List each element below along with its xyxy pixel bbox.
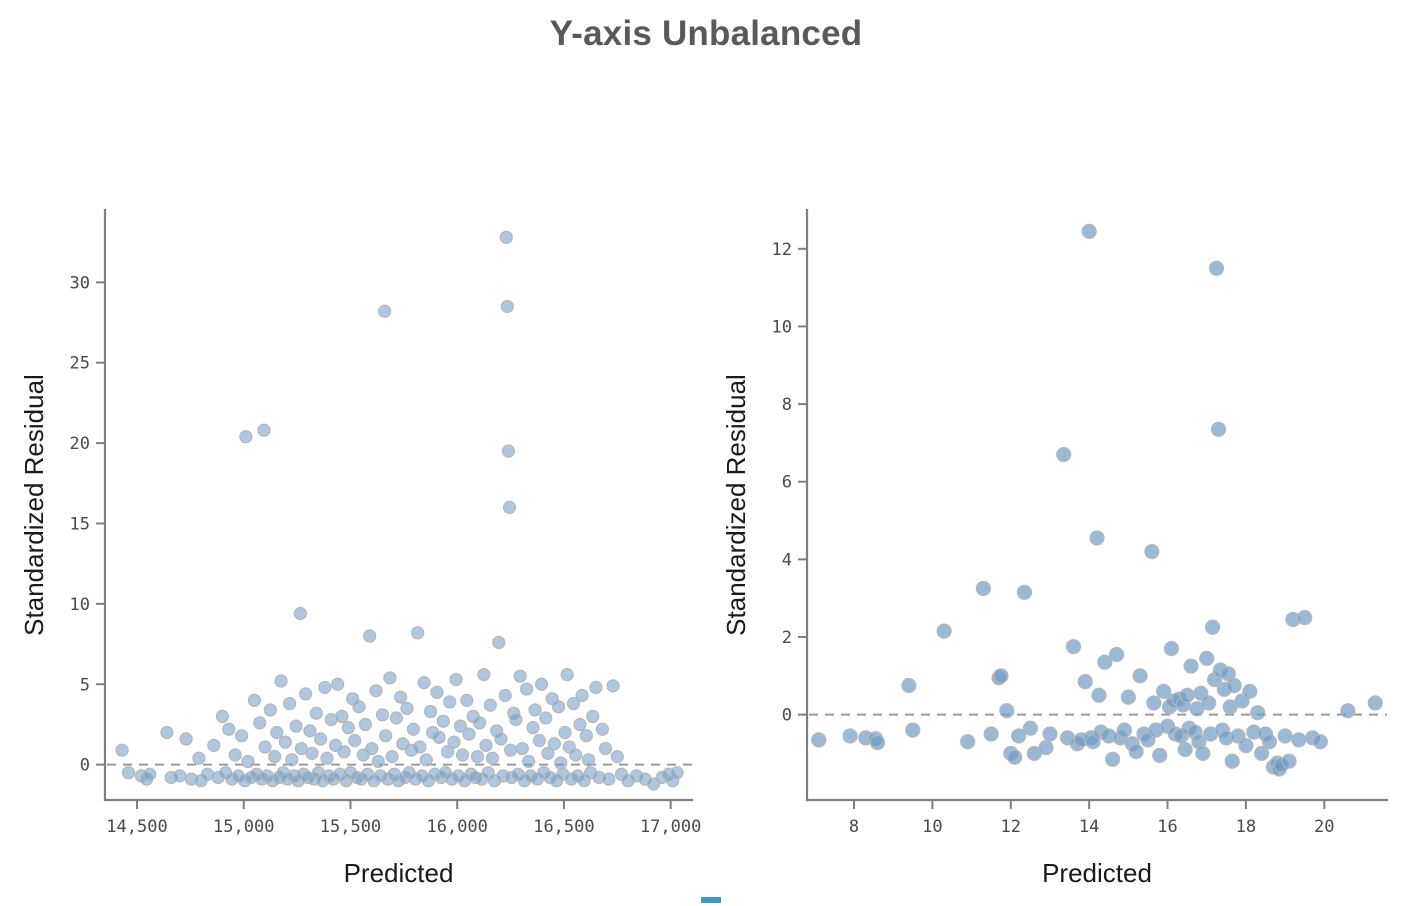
y-tick-label: 0	[80, 756, 90, 776]
data-point	[418, 677, 430, 689]
y-tick-label: 30	[70, 273, 90, 293]
data-point	[336, 710, 348, 722]
data-point	[1206, 620, 1220, 634]
scatter-plot-left-svg: 05101520253014,50015,00015,50016,00016,5…	[20, 185, 720, 885]
bottom-accent-mark	[701, 897, 721, 903]
data-point	[310, 707, 322, 719]
data-point	[984, 727, 998, 741]
data-point	[364, 630, 376, 642]
data-point	[223, 723, 235, 735]
data-point	[275, 675, 287, 687]
data-point	[553, 701, 565, 713]
data-point	[1117, 723, 1131, 737]
data-point	[271, 726, 283, 738]
scatter-plot-left: 05101520253014,50015,00015,50016,00016,5…	[20, 185, 720, 885]
y-tick-label: 5	[80, 675, 90, 695]
x-tick-label: 12	[1001, 817, 1021, 837]
data-point	[576, 690, 588, 702]
data-point	[500, 231, 512, 243]
data-point	[484, 699, 496, 711]
data-point	[1039, 741, 1053, 755]
x-tick-label: 16,000	[426, 817, 487, 837]
data-point	[480, 739, 492, 751]
y-tick-label: 12	[772, 240, 792, 260]
data-point	[279, 736, 291, 748]
data-point	[1184, 659, 1198, 673]
data-point	[961, 735, 975, 749]
data-point	[1225, 754, 1239, 768]
data-point	[376, 709, 388, 721]
data-point	[1262, 735, 1276, 749]
data-point	[555, 757, 567, 769]
data-point	[1057, 448, 1071, 462]
data-point	[937, 624, 951, 638]
data-point	[264, 704, 276, 716]
data-point	[1278, 729, 1292, 743]
data-point	[380, 730, 392, 742]
data-point	[580, 730, 592, 742]
data-point	[1282, 754, 1296, 768]
x-tick-label: 17,000	[640, 817, 701, 837]
data-point	[502, 445, 514, 457]
data-point	[548, 738, 560, 750]
data-point	[161, 726, 173, 738]
data-point	[372, 755, 384, 767]
data-point	[510, 714, 522, 726]
data-point	[433, 731, 445, 743]
data-point	[1292, 733, 1306, 747]
data-point	[144, 768, 156, 780]
data-point	[208, 739, 220, 751]
data-point	[342, 722, 354, 734]
data-point	[384, 672, 396, 684]
data-point	[216, 710, 228, 722]
data-point	[505, 744, 517, 756]
data-point	[812, 733, 826, 747]
data-point	[258, 424, 270, 436]
data-point	[259, 741, 271, 753]
data-point	[444, 696, 456, 708]
data-point	[395, 691, 407, 703]
x-axis-label: Predicted	[344, 858, 454, 885]
data-point	[420, 754, 432, 766]
x-tick-label: 20	[1314, 817, 1334, 837]
data-point	[474, 717, 486, 729]
data-point	[254, 717, 266, 729]
x-tick-label: 10	[922, 817, 942, 837]
x-tick-label: 14	[1079, 817, 1099, 837]
data-point	[523, 755, 535, 767]
data-point	[1133, 669, 1147, 683]
data-point	[379, 305, 391, 317]
data-point	[478, 669, 490, 681]
data-point	[370, 685, 382, 697]
data-point	[1110, 647, 1124, 661]
data-point	[315, 733, 327, 745]
data-point	[236, 730, 248, 742]
data-point	[1008, 750, 1022, 764]
data-point	[499, 690, 511, 702]
data-point	[300, 688, 312, 700]
data-point	[332, 678, 344, 690]
data-point	[1145, 545, 1159, 559]
data-point	[1341, 704, 1355, 718]
data-point	[304, 725, 316, 737]
data-point	[906, 723, 920, 737]
data-point	[561, 669, 573, 681]
data-point	[425, 706, 437, 718]
data-point	[471, 751, 483, 763]
x-tick-label: 15,500	[320, 817, 381, 837]
data-point	[1251, 706, 1265, 720]
data-point	[1018, 585, 1032, 599]
data-point	[1200, 651, 1214, 665]
data-point-group	[116, 231, 683, 790]
data-point	[671, 767, 683, 779]
data-point	[122, 767, 134, 779]
y-tick-label: 6	[782, 473, 792, 493]
y-tick-label: 15	[70, 514, 90, 534]
data-point-group	[812, 224, 1382, 776]
data-point	[116, 744, 128, 756]
data-point	[596, 723, 608, 735]
data-point	[229, 749, 241, 761]
data-point	[871, 736, 885, 750]
data-point	[1066, 640, 1080, 654]
data-point	[1090, 531, 1104, 545]
data-point	[540, 712, 552, 724]
data-point	[607, 680, 619, 692]
data-point	[463, 728, 475, 740]
data-point	[286, 754, 298, 766]
data-point	[902, 678, 916, 692]
y-tick-label: 20	[70, 434, 90, 454]
data-point	[574, 718, 586, 730]
data-point	[493, 636, 505, 648]
data-point	[294, 608, 306, 620]
x-tick-label: 18	[1236, 817, 1256, 837]
y-axis-label: Standardized Residual	[721, 374, 751, 636]
x-axis-label: Predicted	[1042, 858, 1152, 885]
data-point	[1153, 748, 1167, 762]
y-tick-label: 0	[782, 706, 792, 726]
data-point	[290, 720, 302, 732]
data-point	[1129, 744, 1143, 758]
data-point	[533, 735, 545, 747]
data-point	[386, 751, 398, 763]
data-point	[516, 743, 528, 755]
data-point	[366, 743, 378, 755]
x-tick-label: 16	[1157, 817, 1177, 837]
data-point	[1313, 735, 1327, 749]
data-point	[431, 686, 443, 698]
x-tick-label: 15,000	[213, 817, 274, 837]
data-point	[390, 712, 402, 724]
data-point	[495, 733, 507, 745]
data-point	[843, 729, 857, 743]
data-point	[1196, 746, 1210, 760]
data-point	[1243, 684, 1257, 698]
data-point	[1164, 642, 1178, 656]
data-point	[338, 746, 350, 758]
data-point	[600, 743, 612, 755]
data-point	[994, 669, 1008, 683]
data-point	[401, 702, 413, 714]
data-point	[1043, 727, 1057, 741]
data-point	[407, 723, 419, 735]
x-tick-label: 16,500	[533, 817, 594, 837]
data-point	[1210, 261, 1224, 275]
data-point	[529, 704, 541, 716]
data-point	[174, 770, 186, 782]
data-point	[359, 718, 371, 730]
data-point	[412, 627, 424, 639]
scatter-plot-right-svg: 0246810128101214161820PredictedStandardi…	[715, 185, 1405, 885]
y-tick-label: 8	[782, 395, 792, 415]
data-point	[284, 698, 296, 710]
data-point	[587, 710, 599, 722]
data-point	[180, 733, 192, 745]
data-point	[1106, 752, 1120, 766]
data-point	[1368, 696, 1382, 710]
data-point	[1023, 721, 1037, 735]
y-tick-label: 10	[70, 595, 90, 615]
data-point	[1082, 224, 1096, 238]
y-tick-label: 10	[772, 317, 792, 337]
slide-canvas: Y-axis Unbalanced 05101520253014,50015,0…	[0, 0, 1412, 906]
data-point	[501, 300, 513, 312]
x-tick-label: 8	[849, 817, 859, 837]
data-point	[1147, 696, 1161, 710]
data-point	[1211, 422, 1225, 436]
data-point	[559, 726, 571, 738]
data-point	[450, 673, 462, 685]
data-point	[603, 773, 615, 785]
data-point	[590, 681, 602, 693]
data-point	[437, 715, 449, 727]
data-point	[414, 741, 426, 753]
data-point	[248, 694, 260, 706]
data-point	[193, 752, 205, 764]
data-point	[448, 736, 460, 748]
data-point	[349, 735, 361, 747]
x-tick-label: 14,500	[106, 817, 167, 837]
data-point	[1202, 696, 1216, 710]
data-point	[582, 754, 594, 766]
page-title: Y-axis Unbalanced	[0, 14, 1412, 54]
data-point	[240, 431, 252, 443]
data-point	[1298, 611, 1312, 625]
data-point	[353, 701, 365, 713]
data-point	[319, 681, 331, 693]
data-point	[527, 722, 539, 734]
data-point	[457, 749, 469, 761]
y-tick-label: 2	[782, 628, 792, 648]
data-point	[976, 581, 990, 595]
data-point	[321, 752, 333, 764]
scatter-plot-right: 0246810128101214161820PredictedStandardi…	[715, 185, 1405, 885]
data-point	[486, 752, 498, 764]
data-point	[1178, 743, 1192, 757]
data-point	[269, 751, 281, 763]
data-point	[306, 747, 318, 759]
data-point	[536, 678, 548, 690]
y-tick-label: 4	[782, 550, 792, 570]
data-point	[1227, 678, 1241, 692]
data-point	[1180, 688, 1194, 702]
data-point	[570, 749, 582, 761]
data-point	[514, 670, 526, 682]
data-point	[461, 694, 473, 706]
data-point	[1000, 704, 1014, 718]
data-point	[611, 751, 623, 763]
data-point	[1092, 688, 1106, 702]
data-point	[521, 683, 533, 695]
data-point	[1239, 739, 1253, 753]
y-tick-label: 25	[70, 354, 90, 374]
data-point	[503, 501, 515, 513]
y-axis-label: Standardized Residual	[20, 374, 49, 636]
data-point	[242, 755, 254, 767]
data-point	[1121, 690, 1135, 704]
data-point	[1078, 675, 1092, 689]
